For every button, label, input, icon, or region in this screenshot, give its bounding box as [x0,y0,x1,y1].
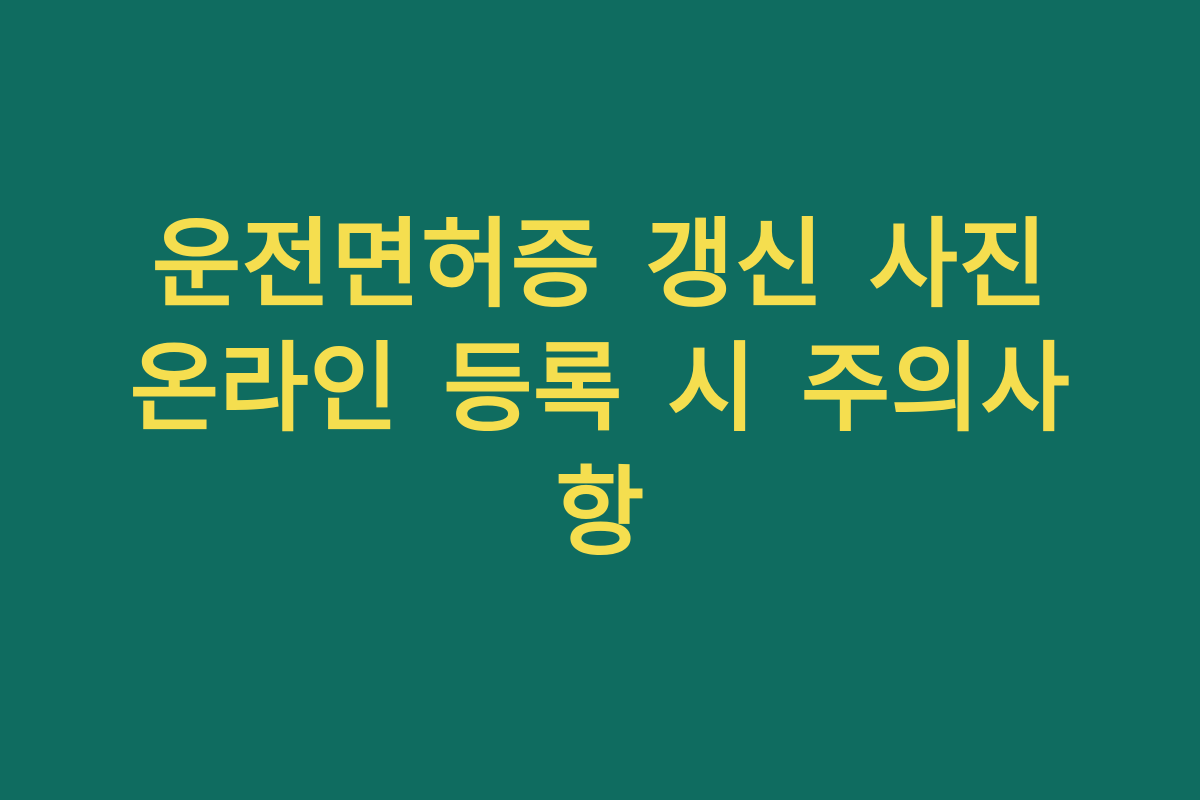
page-title: 운전면허증 갱신 사진 온라인 등록 시 주의사항 [85,203,1115,575]
headline-block: 운전면허증 갱신 사진 온라인 등록 시 주의사항 [85,203,1115,575]
banner-canvas: 운전면허증 갱신 사진 온라인 등록 시 주의사항 [0,0,1200,800]
